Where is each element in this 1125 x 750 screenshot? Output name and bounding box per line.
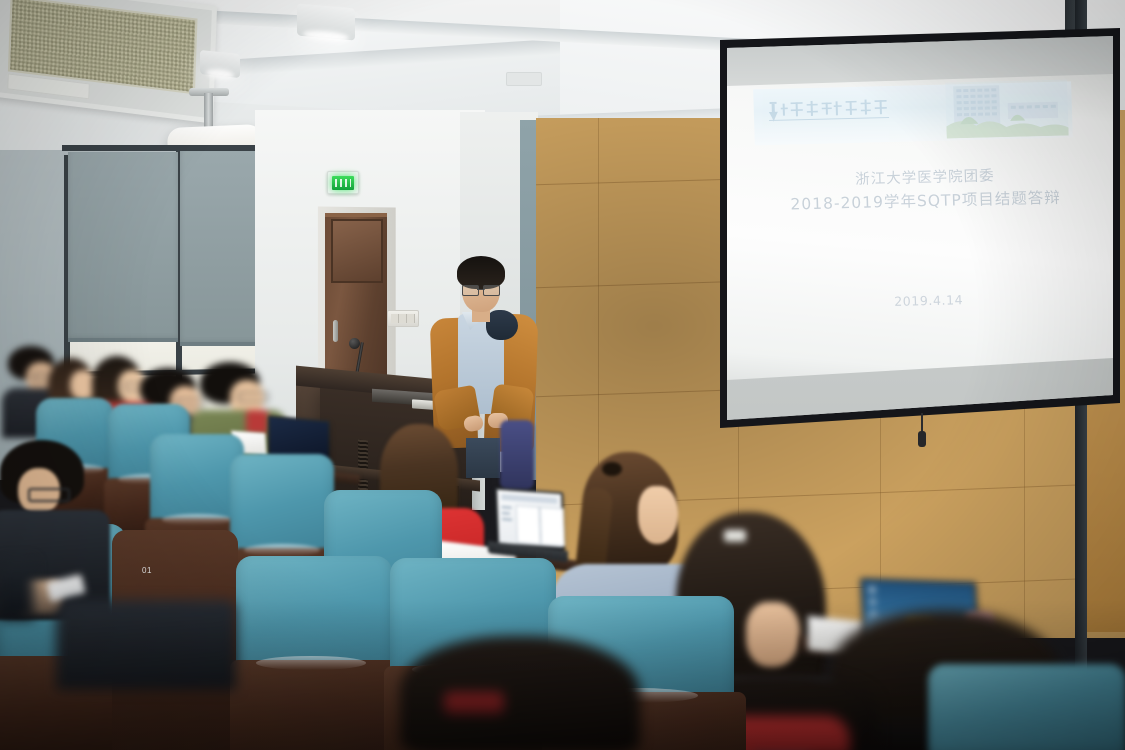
projector-mount-rod [204,93,213,129]
glasses-lens-right [483,285,500,296]
slide-title: 浙江大学医学院团委 2018-2019学年SQTP项目结题答辩 [734,162,1117,218]
hair-clip-icon [724,530,746,542]
door-upper-panel [331,219,383,283]
chair-back-cushion [928,664,1125,750]
sleeve [0,560,34,620]
desktop-icon [868,586,875,593]
lecture-chair[interactable] [236,556,396,750]
hair-accessory [444,692,504,714]
document-toolbar [501,494,557,504]
hair [400,636,640,750]
glasses-icon [461,285,501,294]
glasses-icon [238,392,268,402]
chair-wood-frame [230,660,402,750]
presenter-hood [486,310,518,340]
ceiling-small-vent [506,72,542,86]
chair-highlight [256,656,366,670]
campus-building-photo [945,79,1069,138]
hair-tie [602,462,622,476]
face [746,602,800,668]
chair-behind-presenter [500,420,534,490]
window-header-rail [62,145,282,151]
ceiling-downlight-icon [297,3,355,40]
document-line [502,512,510,515]
document-line [502,518,512,521]
exit-sign-glow [332,176,354,190]
audience-person [400,636,650,750]
face [638,486,678,544]
chair-highlight [244,544,320,556]
ceiling-downlight-icon [200,50,240,78]
window-blind[interactable] [68,152,178,342]
document-line [502,506,512,509]
slide: 浙江大学医学院团委 2018-2019学年SQTP项目结题答辩 2019.4.1… [730,42,1122,392]
screen-pull-cord-icon[interactable] [921,413,923,435]
lap [56,600,236,690]
desktop-icon [869,598,876,605]
document-page [516,505,541,545]
slide-banner [753,81,1073,145]
lecture-hall-photo: 浙江大学医学院团委 2018-2019学年SQTP项目结题答辩 2019.4.1… [0,0,1125,750]
seat-number-label: 01 [142,566,152,575]
glasses-lens-left [462,285,479,296]
emergency-exit-sign-icon [327,171,359,194]
glasses-icon [28,488,70,502]
microphone-head-icon [349,338,360,349]
slide-date: 2019.4.14 [738,287,1125,313]
wall-socket-icon[interactable] [387,310,419,327]
door-handle-icon[interactable] [333,320,338,342]
university-logo-icon [765,96,894,129]
projection-screen: 浙江大学医学院团委 2018-2019学年SQTP项目结题答辩 2019.4.1… [706,28,1120,428]
lecture-chair[interactable] [928,664,1125,750]
